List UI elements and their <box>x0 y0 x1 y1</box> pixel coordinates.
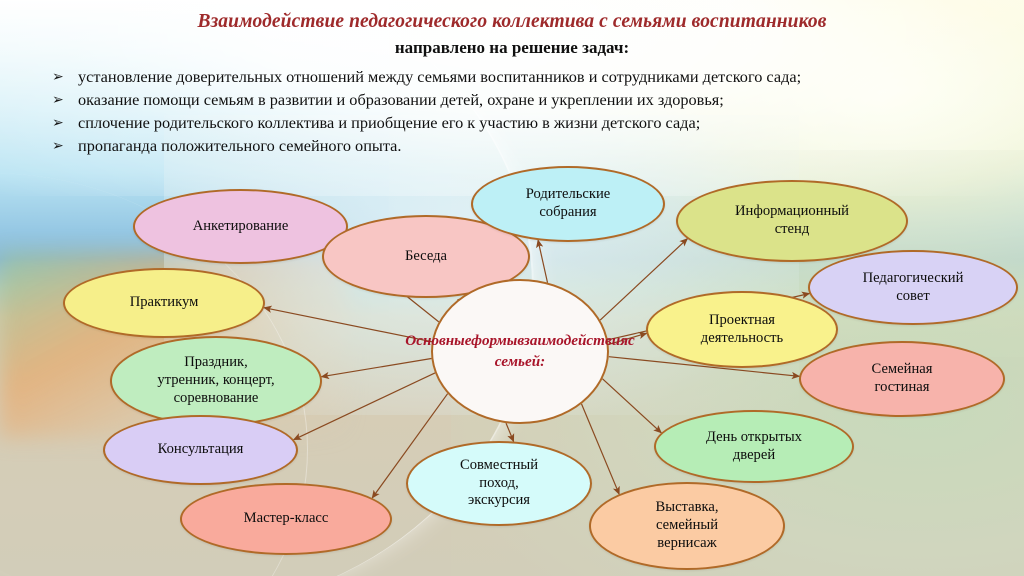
objective-item: ➢пропаганда положительного семейного опы… <box>52 135 1024 158</box>
node-pedagogicheskij-sovet[interactable]: Педагогическийсовет <box>808 250 1018 325</box>
node-text-line: стенд <box>735 221 849 239</box>
node-label: Праздник,утренник, концерт,соревнование <box>157 354 274 407</box>
slide-header: Взаимодействие педагогического коллектив… <box>0 0 1024 158</box>
node-text-line: Основные <box>405 332 471 349</box>
node-konsultaciya[interactable]: Консультация <box>103 415 298 485</box>
node-text-line: гостиная <box>872 379 933 397</box>
node-label: Анкетирование <box>193 218 289 236</box>
node-roditelskie-sobraniya[interactable]: Родительскиесобрания <box>471 166 665 242</box>
objective-item: ➢установление доверительных отношений ме… <box>52 65 1024 88</box>
slide-canvas: Взаимодействие педагогического коллектив… <box>0 0 1024 576</box>
node-text-line: Информационный <box>735 203 849 221</box>
node-label: Проектнаядеятельность <box>701 312 783 348</box>
objective-item: ➢сплочение родительского коллектива и пр… <box>52 112 1024 135</box>
node-master-klass[interactable]: Мастер-класс <box>180 483 392 555</box>
node-label: Семейнаягостиная <box>872 361 933 397</box>
node-text-line: Консультация <box>158 441 244 459</box>
node-vystavka[interactable]: Выставка,семейныйвернисаж <box>589 482 785 570</box>
central-node-label: Основныеформывзаимодействияс семьей: <box>405 331 635 371</box>
node-label: Педагогическийсовет <box>863 270 964 306</box>
node-text-line: Педагогический <box>863 270 964 288</box>
node-prazdnik[interactable]: Праздник,утренник, концерт,соревнование <box>110 336 322 426</box>
node-label: Консультация <box>158 441 244 459</box>
node-text-line: семейный <box>656 517 719 535</box>
node-text-line: День открытых <box>706 429 802 447</box>
node-text-line: Праздник, <box>157 354 274 372</box>
node-text-line: соревнование <box>157 390 274 408</box>
arrow-bullet-icon: ➢ <box>52 139 78 153</box>
node-label: Родительскиесобрания <box>526 186 611 222</box>
arrow-bullet-icon: ➢ <box>52 93 78 107</box>
node-text-line: Семейная <box>872 361 933 379</box>
objective-item: ➢оказание помощи семьям в развитии и обр… <box>52 88 1024 111</box>
node-text-line: формы <box>471 332 517 349</box>
node-text-line: дверей <box>706 447 802 465</box>
objectives-list: ➢установление доверительных отношений ме… <box>0 65 1024 158</box>
node-text-line: совет <box>863 288 964 306</box>
arrow-bullet-icon: ➢ <box>52 70 78 84</box>
objective-text: оказание помощи семьям в развитии и обра… <box>78 92 1024 108</box>
node-text-line: Совместный <box>460 457 538 475</box>
node-label: Беседа <box>405 248 447 266</box>
node-informacionnyj-stend[interactable]: Информационныйстенд <box>676 180 908 262</box>
node-label: Совместныйпоход,экскурсия <box>460 457 538 510</box>
node-text-line: поход, <box>460 475 538 493</box>
node-anketirovanie[interactable]: Анкетирование <box>133 189 348 264</box>
node-label: Информационныйстенд <box>735 203 849 239</box>
node-text-line: Беседа <box>405 248 447 266</box>
objective-text: установление доверительных отношений меж… <box>78 69 1024 85</box>
node-text-line: собрания <box>526 204 611 222</box>
node-label: День открытыхдверей <box>706 429 802 465</box>
node-label: Выставка,семейныйвернисаж <box>656 499 719 552</box>
node-den-otkrytyh-dverey[interactable]: День открытыхдверей <box>654 410 854 483</box>
node-text-line: взаимодействия <box>517 332 628 349</box>
node-text-line: Проектная <box>701 312 783 330</box>
node-praktikum[interactable]: Практикум <box>63 268 265 338</box>
node-text-line: Мастер-класс <box>244 510 329 528</box>
node-label: Мастер-класс <box>244 510 329 528</box>
node-text-line: вернисаж <box>656 535 719 553</box>
arrow-bullet-icon: ➢ <box>52 116 78 130</box>
node-text-line: утренник, концерт, <box>157 372 274 390</box>
page-title: Взаимодействие педагогического коллектив… <box>0 0 1024 33</box>
node-text-line: Анкетирование <box>193 218 289 236</box>
node-text-line: Выставка, <box>656 499 719 517</box>
node-sovmestnyj-pohod[interactable]: Совместныйпоход,экскурсия <box>406 441 592 526</box>
node-text-line: Практикум <box>130 294 199 312</box>
page-subtitle: направлено на решение задач: <box>0 33 1024 58</box>
node-proektnaya-deyatelnost[interactable]: Проектнаядеятельность <box>646 291 838 368</box>
objective-text: сплочение родительского коллектива и при… <box>78 115 1024 131</box>
objective-text: пропаганда положительного семейного опыт… <box>78 138 1024 154</box>
node-text-line: деятельность <box>701 330 783 348</box>
node-semeynaya-gostinaya[interactable]: Семейнаягостиная <box>799 341 1005 417</box>
node-label: Практикум <box>130 294 199 312</box>
central-node-main-forms[interactable]: Основныеформывзаимодействияс семьей: <box>431 279 609 424</box>
node-text-line: Родительские <box>526 186 611 204</box>
node-text-line: экскурсия <box>460 492 538 510</box>
